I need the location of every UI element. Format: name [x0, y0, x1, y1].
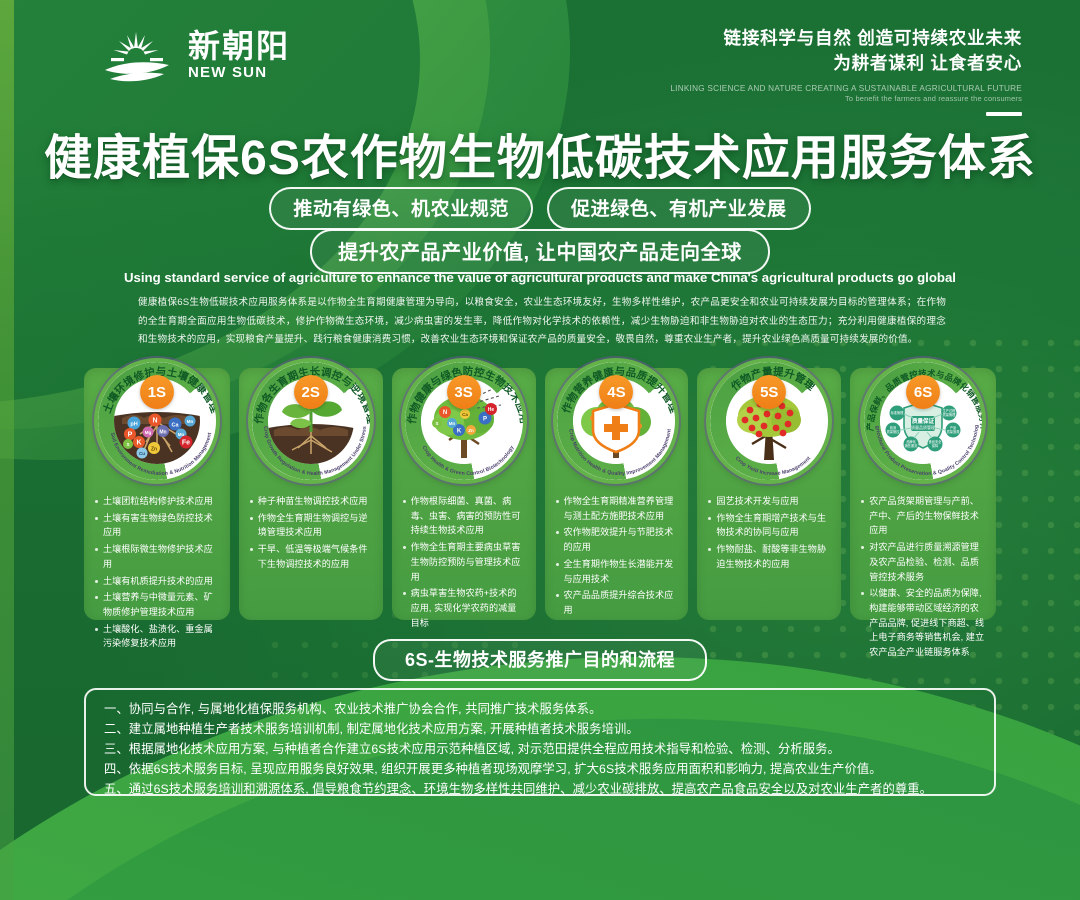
- list-item: 作物全生育期主要病虫草害生物防控预防与管理技术应用: [403, 540, 525, 584]
- svg-text:Mg: Mg: [145, 430, 152, 435]
- svg-text:K: K: [456, 429, 461, 435]
- badge-number-2s: 2S: [294, 375, 328, 409]
- svg-text:Fe: Fe: [182, 440, 190, 447]
- svg-text:P: P: [128, 432, 133, 439]
- list-item: 作物全生育期生物调控与逆境管理技术应用: [250, 511, 372, 540]
- svg-text:N: N: [442, 410, 446, 416]
- card-bullets-3s: 作物根际细菌、真菌、病毒、虫害、病害的预防性可持续生物技术应用 作物全生育期主要…: [392, 484, 536, 642]
- list-item: 农产品品质提升综合技术应用: [556, 588, 678, 617]
- slogan-english-1: LINKING SCIENCE AND NATURE CREATING A SU…: [670, 83, 1022, 94]
- svg-text:Mn: Mn: [159, 430, 166, 436]
- svg-text:Zn: Zn: [468, 428, 474, 433]
- service-card-3s[interactable]: N P K He Mn Zn S Ca 3S 作物健康与绿色防: [392, 368, 536, 620]
- svg-text:Ca: Ca: [462, 412, 468, 417]
- list-item: 四、依据6S技术服务目标, 呈现应用服务良好效果, 组织开展更多种植者现场观摩学…: [104, 760, 978, 780]
- svg-text:质量管控: 质量管控: [887, 429, 901, 434]
- list-item: 作物耐盐、耐酸等非生物胁迫生物技术的应用: [708, 542, 830, 571]
- list-item: 作物全生育期增产技术与生物技术的协同与应用: [708, 511, 830, 540]
- slogan-underline: [986, 112, 1022, 116]
- svg-text:Zn: Zn: [151, 447, 157, 453]
- list-item: 作物根际细菌、真菌、病毒、虫害、病害的预防性可持续生物技术应用: [403, 494, 525, 538]
- list-item: 土壤团粒结构修护技术应用: [95, 494, 219, 509]
- slogan-line-1: 链接科学与自然 创造可持续农业未来: [670, 26, 1022, 51]
- slogan-line-2: 为耕者谋利 让食者安心: [670, 51, 1022, 76]
- svg-text:质量管理: 质量管理: [943, 412, 957, 417]
- service-card-2s[interactable]: 2S 作物各生育期生长调控与逆境管理 Crop Growth Regulatio…: [239, 368, 383, 620]
- process-title-text: 6S-生物技术服务推广目的和流程: [373, 639, 707, 681]
- svg-text:销售服务: 销售服务: [905, 443, 919, 448]
- sunrise-field-logo-icon: [100, 26, 174, 84]
- intro-paragraph: 健康植保6S生物低碳技术应用服务体系是以作物全生育期健康管理为导向，以粮食安全，…: [138, 294, 946, 350]
- list-item: 农产品货架期管理与产前、产中、产后的生物保鲜技术应用: [861, 494, 985, 538]
- badge-number-1s: 1S: [140, 375, 174, 409]
- list-item: 干旱、低温等极端气候条件下生物调控技术的应用: [250, 542, 372, 571]
- svg-text:Mn: Mn: [187, 419, 194, 424]
- list-item: 种子种苗生物调控技术应用: [250, 494, 372, 509]
- card-bullets-1s: 土壤团粒结构修护技术应用 土壤有害生物绿色防控技术应用 土壤根际微生物修护技术应…: [84, 484, 230, 663]
- svg-text:标准管理: 标准管理: [891, 410, 905, 415]
- list-item: 土壤有机质提升技术的应用: [95, 574, 219, 589]
- svg-text:S: S: [126, 442, 129, 447]
- badge-3s: N P K He Mn Zn S Ca 3S 作物健康与绿色防: [401, 358, 527, 484]
- badge-number-4s: 4S: [599, 375, 633, 409]
- svg-text:pH: pH: [130, 422, 137, 428]
- badge-number-6s: 6S: [906, 375, 940, 409]
- svg-text:He: He: [487, 407, 494, 413]
- badge-number-3s: 3S: [447, 375, 481, 409]
- svg-text:Cu: Cu: [139, 451, 145, 456]
- tagline-pill-3: 提升农产品产业价值, 让中国农产品走向全球: [310, 229, 770, 274]
- svg-text:Mn: Mn: [448, 421, 455, 426]
- header-slogan: 链接科学与自然 创造可持续农业未来 为耕者谋利 让食者安心 LINKING SC…: [670, 26, 1022, 116]
- tagline-pill-1: 推动有绿色、机农业规范: [269, 187, 533, 230]
- service-card-row: pH P K N Ca Mn Mn Mo Fe Mg Zn Cu: [84, 368, 996, 620]
- card-bullets-2s: 种子种苗生物调控技术应用 作物全生育期生物调控与逆境管理技术应用 干旱、低温等极…: [239, 484, 383, 584]
- brand-name-en: NEW SUN: [188, 65, 290, 80]
- page-title: 健康植保6S农作物生物低碳技术应用服务体系: [0, 118, 1080, 188]
- list-item: 作物全生育期精准营养管理与测土配方施肥技术应用: [556, 494, 678, 523]
- tagline-row-1: 推动有绿色、机农业规范 促进绿色、有机产业发展: [0, 187, 1080, 230]
- list-item: 农作物肥效提升与节肥技术的应用: [556, 525, 678, 554]
- svg-text:K: K: [136, 440, 141, 447]
- svg-text:S: S: [435, 421, 438, 426]
- badge-2s: 2S 作物各生育期生长调控与逆境管理 Crop Growth Regulatio…: [248, 358, 374, 484]
- svg-text:P: P: [483, 417, 487, 423]
- tagline-row-2: 提升农产品产业价值, 让中国农产品走向全球: [0, 229, 1080, 274]
- list-item: 土壤有害生物绿色防控技术应用: [95, 511, 219, 540]
- list-item: 土壤营养与中微量元素、矿物质修护管理技术应用: [95, 590, 219, 619]
- list-item: 一、协同与合作, 与属地化植保服务机构、农业技术推广协会合作, 共同推广技术服务…: [104, 700, 978, 720]
- brand-name-cn: 新朝阳: [188, 30, 290, 62]
- process-section-title: 6S-生物技术服务推广目的和流程: [0, 639, 1080, 681]
- list-item: 全生育期作物生长潜能开发与应用技术: [556, 557, 678, 586]
- service-card-6s[interactable]: 质量保证 质量品质管理 标准管理 生产过程质量管理 检测质量管控 产品质量追溯: [850, 368, 996, 620]
- process-list-box: 一、协同与合作, 与属地化植保服务机构、农业技术推广协会合作, 共同推广技术服务…: [84, 688, 996, 796]
- svg-text:N: N: [152, 418, 157, 425]
- subtitle-english: Using standard service of agriculture to…: [0, 270, 1080, 285]
- list-item: 三、根据属地化技术应用方案, 与种植者合作建立6S技术应用示范种植区域, 对示范…: [104, 740, 978, 760]
- list-item: 二、建立属地种植生产者技术服务培训机制, 制定属地化技术应用方案, 开展种植者技…: [104, 720, 978, 740]
- tagline-pill-2: 促进绿色、有机产业发展: [547, 187, 811, 230]
- badge-number-5s: 5S: [752, 375, 786, 409]
- svg-text:Ca: Ca: [171, 423, 179, 429]
- list-item: 五、通过6S技术服务培训和溯源体系, 倡导粮食节约理念、环境生物多样性共同维护、…: [104, 780, 978, 800]
- poster-canvas: 新朝阳 NEW SUN 链接科学与自然 创造可持续农业未来 为耕者谋利 让食者安…: [0, 0, 1080, 900]
- svg-text:质量保证: 质量保证: [912, 417, 935, 425]
- svg-text:质量追溯: 质量追溯: [947, 429, 960, 434]
- brand-logo: 新朝阳 NEW SUN: [100, 26, 290, 84]
- badge-1s: pH P K N Ca Mn Mn Mo Fe Mg Zn Cu: [94, 358, 220, 484]
- card-bullets-4s: 作物全生育期精准营养管理与测土配方施肥技术应用 农作物肥效提升与节肥技术的应用 …: [545, 484, 689, 630]
- slogan-english-2: To benefit the farmers and reassure the …: [670, 94, 1022, 104]
- service-card-5s[interactable]: 5S 作物产量提升管理 Crop Yield Increase Manageme…: [697, 368, 841, 620]
- poster-header: 新朝阳 NEW SUN 链接科学与自然 创造可持续农业未来 为耕者谋利 让食者安…: [0, 0, 1080, 110]
- badge-5s: 5S 作物产量提升管理 Crop Yield Increase Manageme…: [706, 358, 832, 484]
- card-bullets-5s: 园艺技术开发与应用 作物全生育期增产技术与生物技术的协同与应用 作物耐盐、耐酸等…: [697, 484, 841, 584]
- list-item: 病虫草害生物农药+技术的应用, 实现化学农药的减量目标: [403, 586, 525, 630]
- service-card-4s[interactable]: 4S 作物营养健康与品质提升管理 Crop Nutrition Health &…: [545, 368, 689, 620]
- badge-6s: 质量保证 质量品质管理 标准管理 生产过程质量管理 检测质量管控 产品质量追溯: [860, 358, 986, 484]
- svg-text:保障: 保障: [932, 443, 939, 448]
- svg-text:质量品质管理: 质量品质管理: [911, 424, 935, 430]
- list-item: 园艺技术开发与应用: [708, 494, 830, 509]
- badge-4s: 4S 作物营养健康与品质提升管理 Crop Nutrition Health &…: [553, 358, 679, 484]
- service-card-1s[interactable]: pH P K N Ca Mn Mn Mo Fe Mg Zn Cu: [84, 368, 230, 620]
- list-item: 对农产品进行质量溯源管理及农产品检验、检测、品质管控技术服务: [861, 540, 985, 584]
- list-item: 土壤根际微生物修护技术应用: [95, 542, 219, 571]
